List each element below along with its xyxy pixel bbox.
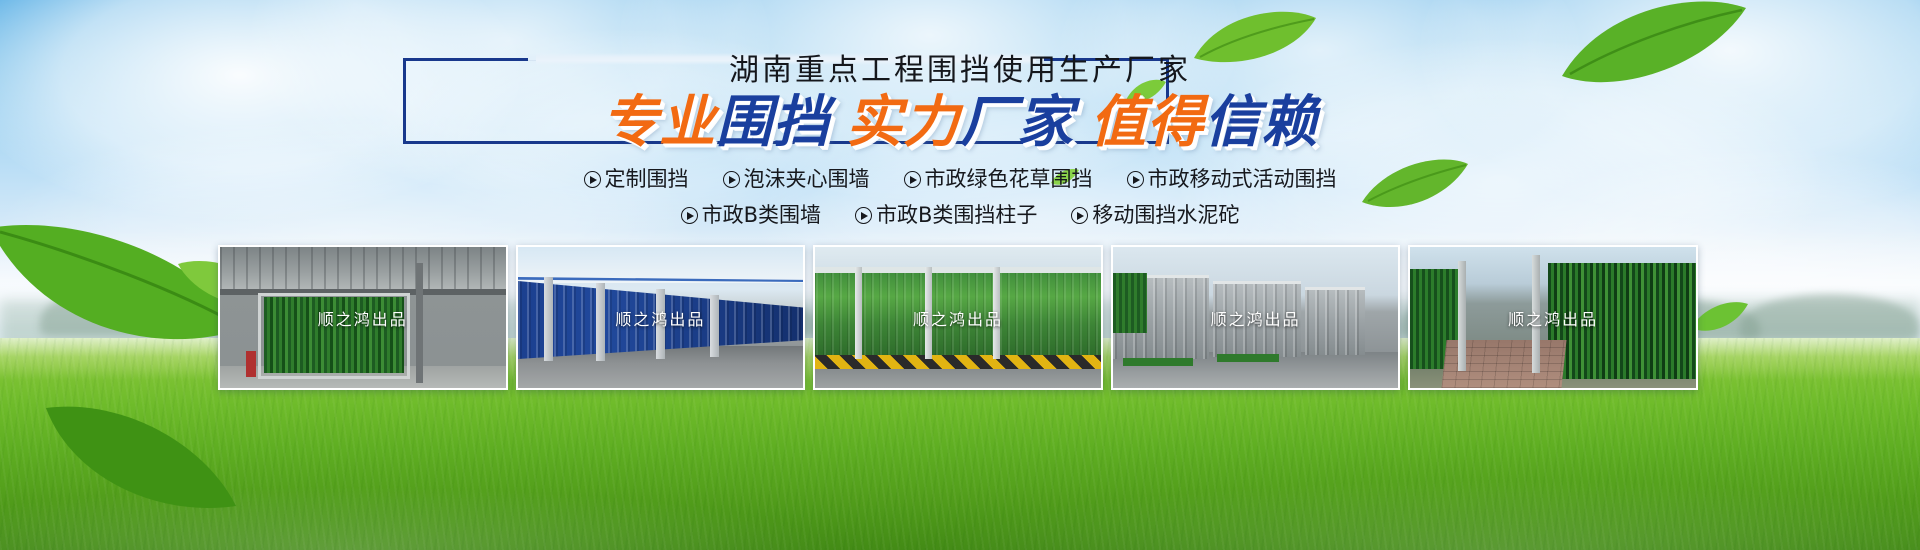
product-photo[interactable]: 顺之鸿出品 xyxy=(218,245,508,390)
banner-main-title: 专业围挡 实力厂家 值得信赖 xyxy=(0,95,1920,151)
photo-watermark: 顺之鸿出品 xyxy=(1410,306,1696,330)
play-triangle-icon xyxy=(584,171,601,188)
feature-item: 泡沫夹心围墙 xyxy=(723,163,870,196)
play-triangle-icon xyxy=(723,171,740,188)
feature-item: 市政B类围挡柱子 xyxy=(855,199,1037,232)
feature-label: 市政绿色花草围挡 xyxy=(925,167,1093,191)
product-photo-strip: 顺之鸿出品 顺之鸿出品 顺之鸿出品 xyxy=(218,245,1698,390)
photo-watermark: 顺之鸿出品 xyxy=(518,306,804,330)
product-photo[interactable]: 顺之鸿出品 xyxy=(516,245,806,390)
promo-banner: 湖南重点工程围挡使用生产厂家 专业围挡 实力厂家 值得信赖 定制围挡泡沫夹心围墙… xyxy=(0,0,1920,550)
banner-subtitle: 湖南重点工程围挡使用生产厂家 xyxy=(0,45,1920,89)
feature-item: 移动围挡水泥砣 xyxy=(1071,199,1239,232)
product-photo[interactable]: 顺之鸿出品 xyxy=(813,245,1103,390)
title-spacer xyxy=(830,95,846,151)
photo-watermark: 顺之鸿出品 xyxy=(815,306,1101,330)
play-triangle-icon xyxy=(1127,171,1144,188)
feature-item: 市政B类围墙 xyxy=(681,199,821,232)
feature-list: 定制围挡泡沫夹心围墙市政绿色花草围挡市政移动式活动围挡 市政B类围墙市政B类围挡… xyxy=(0,163,1920,232)
photo-red-object xyxy=(246,351,256,377)
title-spacer xyxy=(1074,95,1090,151)
photo-watermark: 顺之鸿出品 xyxy=(220,306,506,330)
title-part-3: 实力 xyxy=(846,95,960,151)
photo-panel-foot xyxy=(1123,358,1193,366)
play-triangle-icon xyxy=(1071,207,1088,224)
product-photo[interactable]: 顺之鸿出品 xyxy=(1111,245,1401,390)
feature-label: 市政B类围墙 xyxy=(702,203,821,227)
feature-item: 市政绿色花草围挡 xyxy=(904,163,1093,196)
title-part-6: 信赖 xyxy=(1204,95,1318,151)
feature-item: 市政移动式活动围挡 xyxy=(1127,163,1337,196)
play-triangle-icon xyxy=(681,207,698,224)
feature-label: 定制围挡 xyxy=(605,167,689,191)
feature-row-2: 市政B类围墙市政B类围挡柱子移动围挡水泥砣 xyxy=(0,199,1920,232)
play-triangle-icon xyxy=(904,171,921,188)
feature-label: 市政移动式活动围挡 xyxy=(1148,167,1337,191)
title-part-2: 围挡 xyxy=(716,95,830,151)
play-triangle-icon xyxy=(855,207,872,224)
feature-label: 移动围挡水泥砣 xyxy=(1092,203,1239,227)
product-photo[interactable]: 顺之鸿出品 xyxy=(1408,245,1698,390)
photo-shed-roof xyxy=(220,247,506,293)
photo-panel-foot xyxy=(1217,354,1279,362)
feature-row-1: 定制围挡泡沫夹心围墙市政绿色花草围挡市政移动式活动围挡 xyxy=(0,163,1920,196)
feature-label: 泡沫夹心围墙 xyxy=(744,167,870,191)
feature-label: 市政B类围挡柱子 xyxy=(876,203,1037,227)
title-part-4: 厂家 xyxy=(960,95,1074,151)
photo-watermark: 顺之鸿出品 xyxy=(1113,306,1399,330)
feature-item: 定制围挡 xyxy=(584,163,689,196)
distant-tree xyxy=(40,288,190,336)
title-part-5: 值得 xyxy=(1090,95,1204,151)
title-part-1: 专业 xyxy=(602,95,716,151)
